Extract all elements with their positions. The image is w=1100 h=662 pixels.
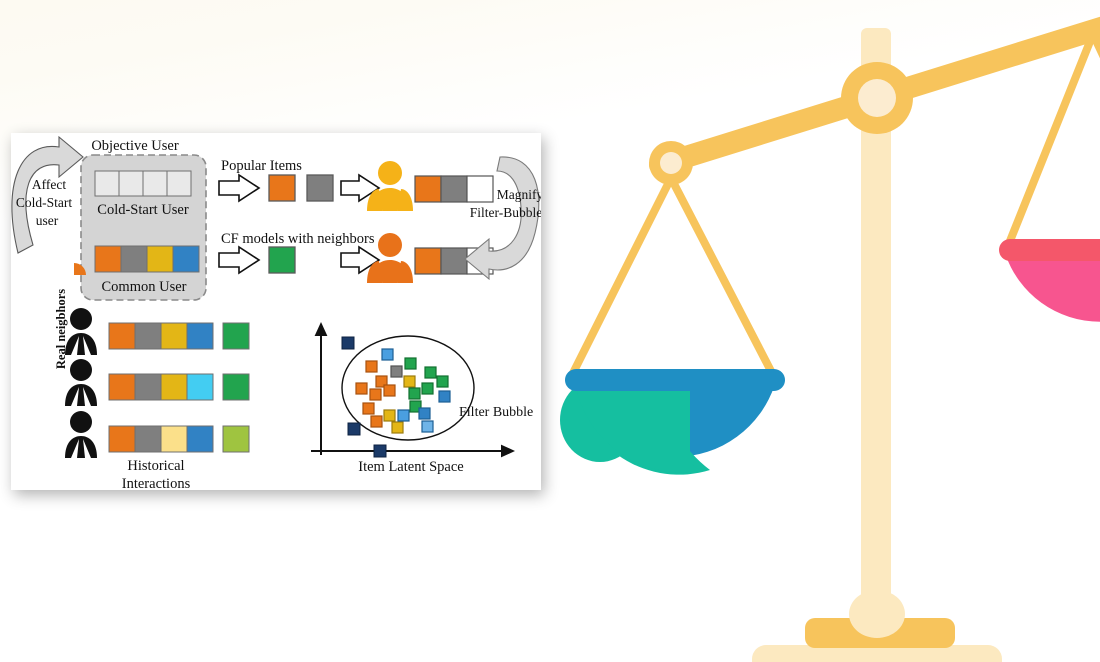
affect-label-line1: Affect: [32, 177, 66, 192]
objective-user-label: Objective User: [91, 138, 179, 154]
scatter-inside-points: [356, 349, 450, 433]
neighbor-rec-2: [223, 374, 249, 400]
scale-base-knob: [849, 590, 905, 638]
affect-label-line3: user: [36, 213, 59, 228]
arrow-to-popular-items: [219, 175, 259, 201]
neighbor-avatar-2: [65, 359, 97, 406]
popular-items-label: Popular Items: [221, 158, 302, 174]
neighbor-avatar-3: [65, 411, 97, 458]
item-latent-space-plot: Filter Bubble Item Latent Space: [311, 326, 533, 475]
historical-label-line1: Historical: [127, 458, 184, 474]
framework-diagram: Affect Cold-Start user Objective User Co…: [11, 133, 541, 490]
magnify-label-line2: Filter-Bubble: [470, 205, 541, 220]
neighbor-row-1: [65, 308, 249, 355]
common-user-label: Common User: [102, 279, 187, 295]
neighbor-avatar-1: [65, 308, 97, 355]
neighbor-rec-1: [223, 323, 249, 349]
left-pan-strings: [573, 178, 772, 373]
cold-start-item-row: [95, 171, 191, 196]
real-neighbors-label: Real neigbhors: [54, 289, 68, 369]
cf-item-swatch-green: [269, 247, 295, 273]
item-latent-space-xlabel: Item Latent Space: [358, 459, 463, 475]
right-pan-strings: [1010, 34, 1100, 241]
magnify-label-line1: Magnify: [497, 187, 541, 202]
neighbor-rec-3: [223, 426, 249, 452]
filter-bubble-annotation: Filter Bubble: [459, 405, 533, 420]
popular-item-swatch-gray: [307, 175, 333, 201]
figure-canvas: Affect Cold-Start user Objective User Co…: [0, 0, 1100, 662]
arrow-to-cf-items: [219, 247, 259, 273]
neighbor-row-2: [65, 359, 249, 406]
neighbor-row-3: [65, 411, 249, 458]
historical-label-line2: Interactions: [122, 476, 191, 490]
popular-item-swatch-orange: [269, 175, 295, 201]
scale-hinge-center: [841, 62, 913, 134]
cf-models-label: CF models with neighbors: [221, 231, 375, 247]
right-pan: [999, 239, 1100, 322]
common-user-item-row: [95, 246, 199, 272]
left-pan: [560, 369, 785, 475]
framework-diagram-card: Affect Cold-Start user Objective User Co…: [11, 133, 541, 490]
filter-bubble-result-bar-top: [415, 176, 493, 202]
cold-start-user-label: Cold-Start User: [97, 202, 189, 218]
affect-label-line2: Cold-Start: [16, 195, 72, 210]
